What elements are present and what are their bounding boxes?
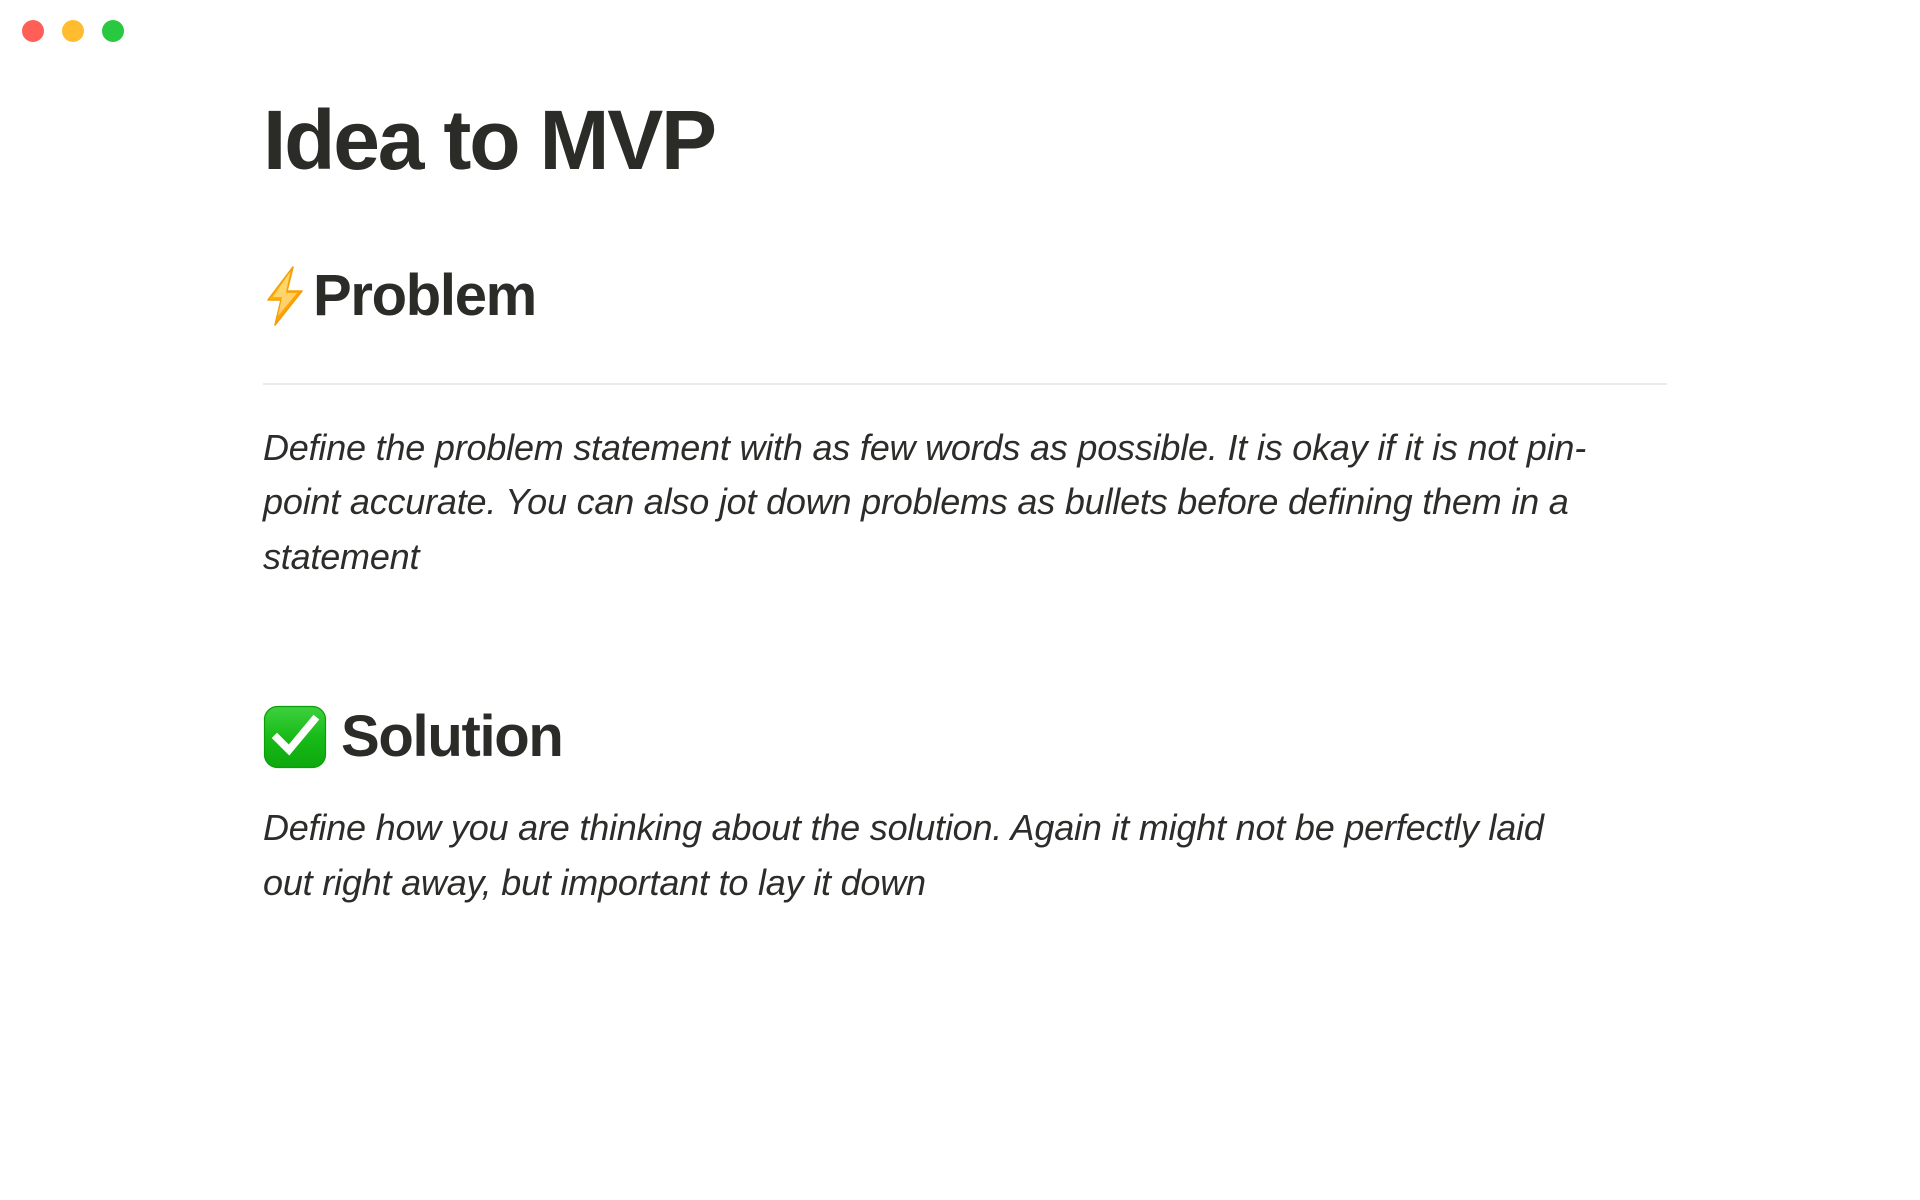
maximize-window-button[interactable] (102, 20, 124, 42)
section-heading-problem[interactable]: Problem (263, 262, 1667, 330)
app-window: Idea to MVP (0, 0, 1920, 1200)
high-voltage-icon (263, 266, 307, 326)
close-window-button[interactable] (22, 20, 44, 42)
section-divider (263, 383, 1667, 385)
section-problem: Problem Define the problem statement wit… (263, 262, 1667, 585)
minimize-window-button[interactable] (62, 20, 84, 42)
section-heading-solution[interactable]: Solution (263, 703, 1667, 771)
window-traffic-lights (0, 20, 124, 42)
section-body-problem[interactable]: Define the problem statement with as few… (263, 421, 1658, 585)
section-heading-solution-label: Solution (341, 703, 563, 771)
section-heading-problem-label: Problem (313, 262, 536, 330)
document-canvas: Idea to MVP (0, 62, 1920, 911)
page-title[interactable]: Idea to MVP (263, 96, 1667, 184)
section-solution: Solution Define how you are thinking abo… (263, 703, 1667, 911)
section-body-solution[interactable]: Define how you are thinking about the so… (263, 801, 1553, 910)
check-mark-button-icon (263, 705, 327, 769)
window-titlebar (0, 0, 1920, 62)
